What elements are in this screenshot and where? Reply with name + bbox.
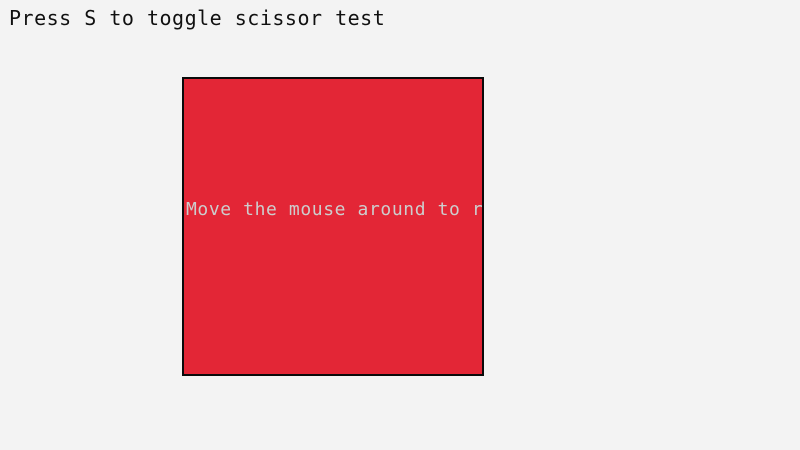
demo-canvas[interactable]: Press S to toggle scissor test Move the … [0,0,800,450]
scissor-toggle-hint: Press S to toggle scissor test [9,6,385,30]
clipped-message-text: Move the mouse around to r [186,199,482,221]
scissor-clip-area: Move the mouse around to r [184,79,482,374]
scissor-rectangle[interactable]: Move the mouse around to r [182,77,484,376]
